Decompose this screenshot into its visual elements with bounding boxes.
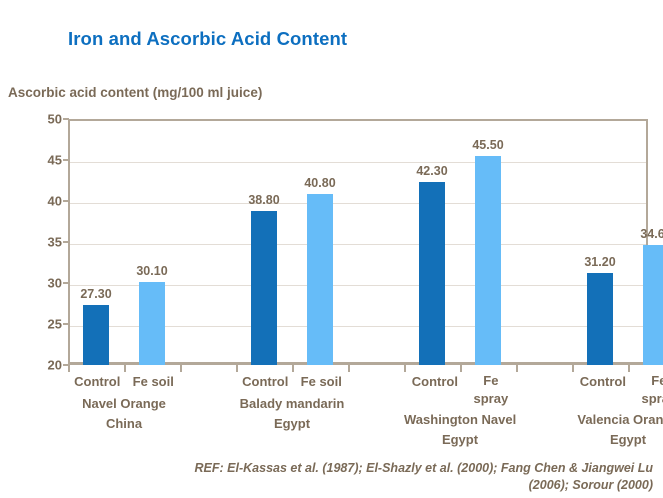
x-group-name: Balady mandarin xyxy=(236,394,348,414)
y-tick-label: 40 xyxy=(12,194,68,209)
y-axis-title: Ascorbic acid content (mg/100 ml juice) xyxy=(8,85,262,100)
footnote-line-1: REF: El-Kassas et al. (1987); El-Shazly … xyxy=(70,460,653,477)
footnote-line-2: (2006); Sorour (2000) xyxy=(70,477,653,494)
bar-value-label: 42.30 xyxy=(416,164,447,178)
bar-value-label: 45.50 xyxy=(472,138,503,152)
y-tick-label: 35 xyxy=(12,235,68,250)
x-series-label: Fe soil xyxy=(133,372,174,392)
bar[interactable]: 42.30 xyxy=(419,182,445,365)
y-tick-label: 20 xyxy=(12,358,68,373)
x-tick-mark xyxy=(460,365,462,372)
x-group-country: Egypt xyxy=(404,430,516,450)
x-tick-mark xyxy=(180,365,182,372)
x-group-country: Egypt xyxy=(236,414,348,434)
bar-value-label: 31.20 xyxy=(584,255,615,269)
bar-value-label: 40.80 xyxy=(304,176,335,190)
x-group-series-row: ControlFe soil xyxy=(68,372,180,392)
slide-canvas: Iron and Ascorbic Acid Content Ascorbic … xyxy=(0,0,663,498)
x-group-country: Egypt xyxy=(572,430,663,450)
bar-value-label: 34.60 xyxy=(640,227,663,241)
x-series-label: Control xyxy=(580,372,626,408)
x-group-name: Washington Navel xyxy=(404,410,516,430)
x-group-series-row: ControlFespray xyxy=(404,372,516,408)
x-series-label: Control xyxy=(242,372,288,392)
bar[interactable]: 31.20 xyxy=(587,273,613,365)
x-group-country: China xyxy=(68,414,180,434)
y-axis-ticks: 20253035404550 xyxy=(0,119,68,365)
bars-layer: 27.3030.1038.8040.8042.3045.5031.2034.60 xyxy=(68,119,648,365)
x-series-label: Fespray xyxy=(642,372,663,408)
x-tick-mark xyxy=(292,365,294,372)
x-series-label: Fespray xyxy=(474,372,509,408)
bar-value-label: 27.30 xyxy=(80,287,111,301)
y-tick-label: 45 xyxy=(12,153,68,168)
x-tick-mark xyxy=(68,365,70,372)
x-group-series-row: ControlFe soil xyxy=(236,372,348,392)
x-group-label: ControlFe soilBalady mandarinEgypt xyxy=(236,372,348,434)
x-group-label: ControlFesprayWashington NavelEgypt xyxy=(404,372,516,450)
x-group-series-row: ControlFespray xyxy=(572,372,663,408)
x-series-label: Control xyxy=(74,372,120,392)
x-group-label: ControlFesprayValencia OrangeEgypt xyxy=(572,372,663,450)
x-tick-mark xyxy=(348,365,350,372)
x-axis-labels: ControlFe soilNavel OrangeChinaControlFe… xyxy=(68,372,648,450)
bar[interactable]: 45.50 xyxy=(475,156,501,365)
bar[interactable]: 40.80 xyxy=(307,194,333,365)
x-group-label: ControlFe soilNavel OrangeChina xyxy=(68,372,180,434)
y-tick-label: 50 xyxy=(12,112,68,127)
x-tick-mark xyxy=(236,365,238,372)
x-series-label: Fe soil xyxy=(301,372,342,392)
y-tick-label: 30 xyxy=(12,276,68,291)
x-tick-mark xyxy=(628,365,630,372)
bar[interactable]: 34.60 xyxy=(643,245,663,365)
x-tick-mark xyxy=(404,365,406,372)
x-tick-mark xyxy=(572,365,574,372)
x-tick-mark xyxy=(516,365,518,372)
x-tick-mark xyxy=(124,365,126,372)
bar[interactable]: 30.10 xyxy=(139,282,165,365)
bar-value-label: 38.80 xyxy=(248,193,279,207)
y-tick-label: 25 xyxy=(12,317,68,332)
x-group-name: Navel Orange xyxy=(68,394,180,414)
bar-value-label: 30.10 xyxy=(136,264,167,278)
x-series-label: Control xyxy=(412,372,458,408)
bar[interactable]: 27.30 xyxy=(83,305,109,365)
bar[interactable]: 38.80 xyxy=(251,211,277,365)
x-group-name: Valencia Orange xyxy=(572,410,663,430)
page-title: Iron and Ascorbic Acid Content xyxy=(68,28,347,50)
reference-footnote: REF: El-Kassas et al. (1987); El-Shazly … xyxy=(70,460,653,494)
